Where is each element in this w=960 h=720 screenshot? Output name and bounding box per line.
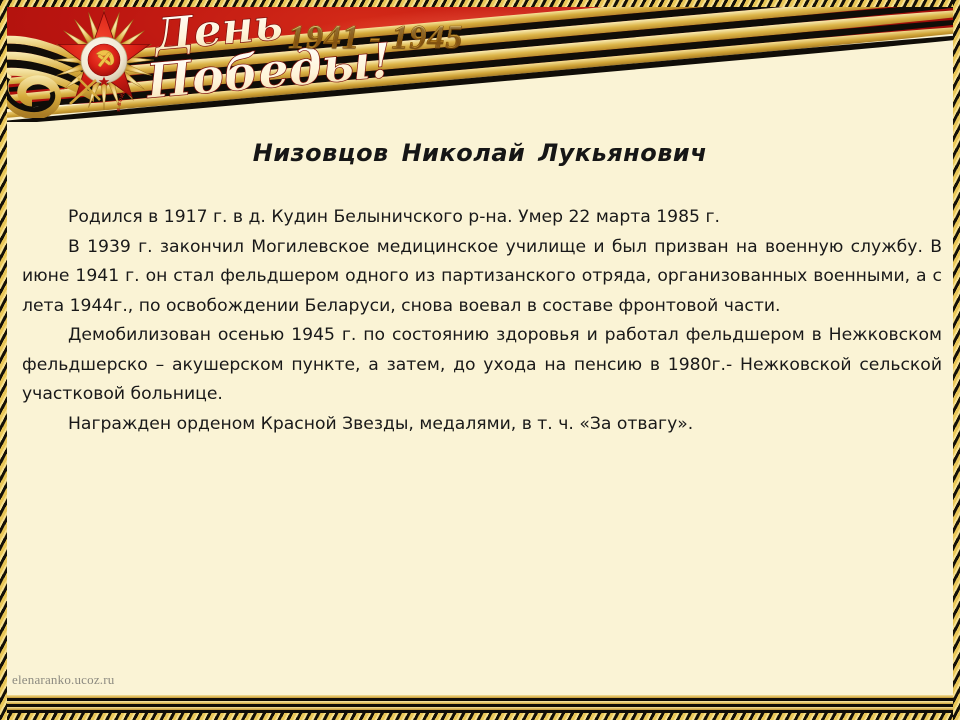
years-label: 1941 - 1945 [288, 19, 463, 57]
slide-canvas: ОТЕЧЕСТВЕННАЯ ВОЙНА [0, 0, 960, 720]
paragraph-birth: Родился в 1917 г. в д. Кудин Белыничског… [22, 203, 942, 233]
paragraph-service: В 1939 г. закончил Могилевское медицинск… [22, 233, 942, 322]
footer-st-george-ribbon [0, 695, 960, 713]
paragraph-awards: Награжден орденом Красной Звезды, медаля… [22, 410, 942, 440]
site-watermark: elenaranko.ucoz.ru [12, 672, 115, 688]
document-body: Низовцов Николай Лукьянович Родился в 19… [0, 122, 960, 439]
order-of-patriotic-war-medal-icon: ОТЕЧЕСТВЕННАЯ ВОЙНА [52, 8, 156, 112]
paragraph-demobilization: Демобилизован осенью 1945 г. по состояни… [22, 321, 942, 410]
victory-day-header-banner: ОТЕЧЕСТВЕННАЯ ВОЙНА [0, 0, 960, 122]
svg-text:ОТЕЧЕСТВЕННАЯ ВОЙНА: ОТЕЧЕСТВЕННАЯ ВОЙНА [116, 86, 145, 112]
biography-text: Родился в 1917 г. в д. Кудин Белыничског… [22, 203, 942, 439]
page-title: Низовцов Николай Лукьянович [0, 139, 960, 167]
frame-border-bottom [0, 713, 960, 720]
